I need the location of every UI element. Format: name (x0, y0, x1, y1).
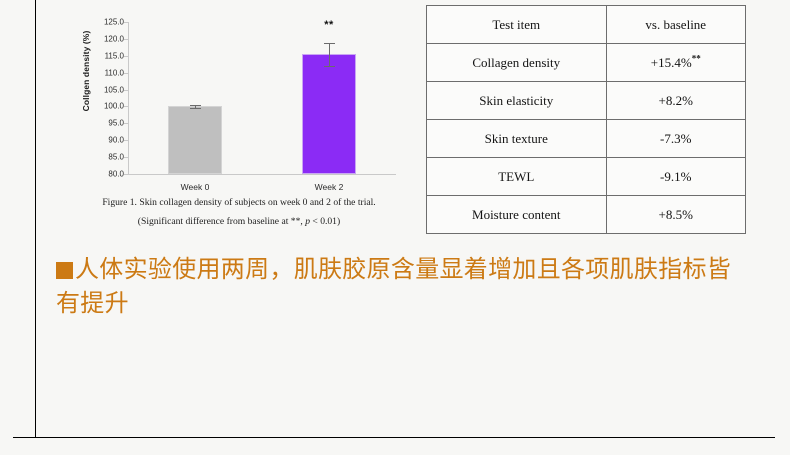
page-border-bottom (13, 437, 775, 438)
chart-y-axis-line (128, 22, 129, 174)
chart-error-bar-cap (190, 108, 201, 109)
page-border-left (35, 0, 36, 438)
headline-text: 人体实验使用两周，肌肤胶原含量显着增加且各项肌肤指标皆有提升 (56, 255, 731, 317)
chart-x-tick-label: Week 0 (155, 182, 235, 192)
table-cell-test-item: TEWL (427, 158, 607, 196)
chart-x-tick-label: Week 2 (289, 182, 369, 192)
table-row: Skin texture-7.3% (427, 120, 746, 158)
table-cell-test-item: Moisture content (427, 196, 607, 234)
figure-panel: Collgen density (%) 125.0120.0115.0110.0… (55, 4, 410, 236)
chart-y-tick-mark (124, 140, 128, 141)
caption-post: < 0.01) (310, 216, 340, 227)
chart-significance-marker: ** (319, 19, 339, 31)
table-cell-vs-baseline: -9.1% (606, 158, 746, 196)
collagen-density-bar-chart: Collgen density (%) 125.0120.0115.0110.0… (55, 4, 410, 192)
chart-y-tick-mark (124, 73, 128, 74)
chart-y-tick-mark (124, 157, 128, 158)
results-table: Test itemvs. baselineCollagen density+15… (426, 5, 746, 234)
table-cell-test-item: Skin texture (427, 120, 607, 158)
chart-y-tick-label: 125.0 (88, 18, 124, 27)
table-row: Skin elasticity+8.2% (427, 82, 746, 120)
chart-y-tick-mark (124, 174, 128, 175)
chart-bar-week-2 (302, 54, 356, 174)
table-cell-test-item: Skin elasticity (427, 82, 607, 120)
table-row: Moisture content+8.5% (427, 196, 746, 234)
chart-y-tick-mark (124, 56, 128, 57)
chart-bar-week-0 (168, 106, 222, 174)
chart-error-bar-cap (190, 105, 201, 106)
figure-caption-line-2: (Significant difference from baseline at… (55, 213, 423, 232)
chart-y-tick-label: 90.0 (88, 136, 124, 145)
table-cell-vs-baseline: +8.2% (606, 82, 746, 120)
headline-banner: 人体实验使用两周，肌肤胶原含量显着增加且各项肌肤指标皆有提升 (56, 252, 736, 320)
table-header-cell: Test item (427, 6, 607, 44)
table-header-row: Test itemvs. baseline (427, 6, 746, 44)
chart-error-bar (329, 43, 330, 65)
chart-y-tick-label: 115.0 (88, 51, 124, 60)
table-row: Collagen density+15.4%** (427, 44, 746, 82)
figure-caption-line-1: Figure 1. Skin collagen density of subje… (55, 194, 423, 213)
chart-y-tick-mark (124, 22, 128, 23)
chart-error-bar-cap (324, 43, 335, 44)
table-cell-vs-baseline: +15.4%** (606, 44, 746, 82)
chart-error-bar-cap (324, 66, 335, 67)
chart-y-tick-labels: 125.0120.0115.0110.0105.0100.095.090.085… (88, 22, 124, 174)
chart-plot-area: Week 0Week 2** (128, 22, 396, 174)
table-cell-vs-baseline: -7.3% (606, 120, 746, 158)
chart-y-tick-mark (124, 39, 128, 40)
significance-superscript: ** (692, 53, 701, 63)
table-cell-test-item: Collagen density (427, 44, 607, 82)
chart-y-tick-mark (124, 123, 128, 124)
chart-y-tick-label: 105.0 (88, 85, 124, 94)
chart-y-tick-mark (124, 106, 128, 107)
chart-y-tick-label: 80.0 (88, 170, 124, 179)
table-header-cell: vs. baseline (606, 6, 746, 44)
chart-y-tick-label: 100.0 (88, 102, 124, 111)
table-row: TEWL-9.1% (427, 158, 746, 196)
caption-pre: (Significant difference from baseline at… (138, 216, 305, 227)
chart-y-tick-label: 95.0 (88, 119, 124, 128)
chart-y-tick-label: 120.0 (88, 34, 124, 43)
chart-y-tick-label: 110.0 (88, 68, 124, 77)
figure-caption: Figure 1. Skin collagen density of subje… (55, 194, 423, 231)
chart-y-tick-label: 85.0 (88, 153, 124, 162)
table-cell-vs-baseline: +8.5% (606, 196, 746, 234)
chart-x-axis-line (128, 174, 396, 175)
square-bullet-icon (56, 262, 73, 279)
chart-y-tick-mark (124, 90, 128, 91)
